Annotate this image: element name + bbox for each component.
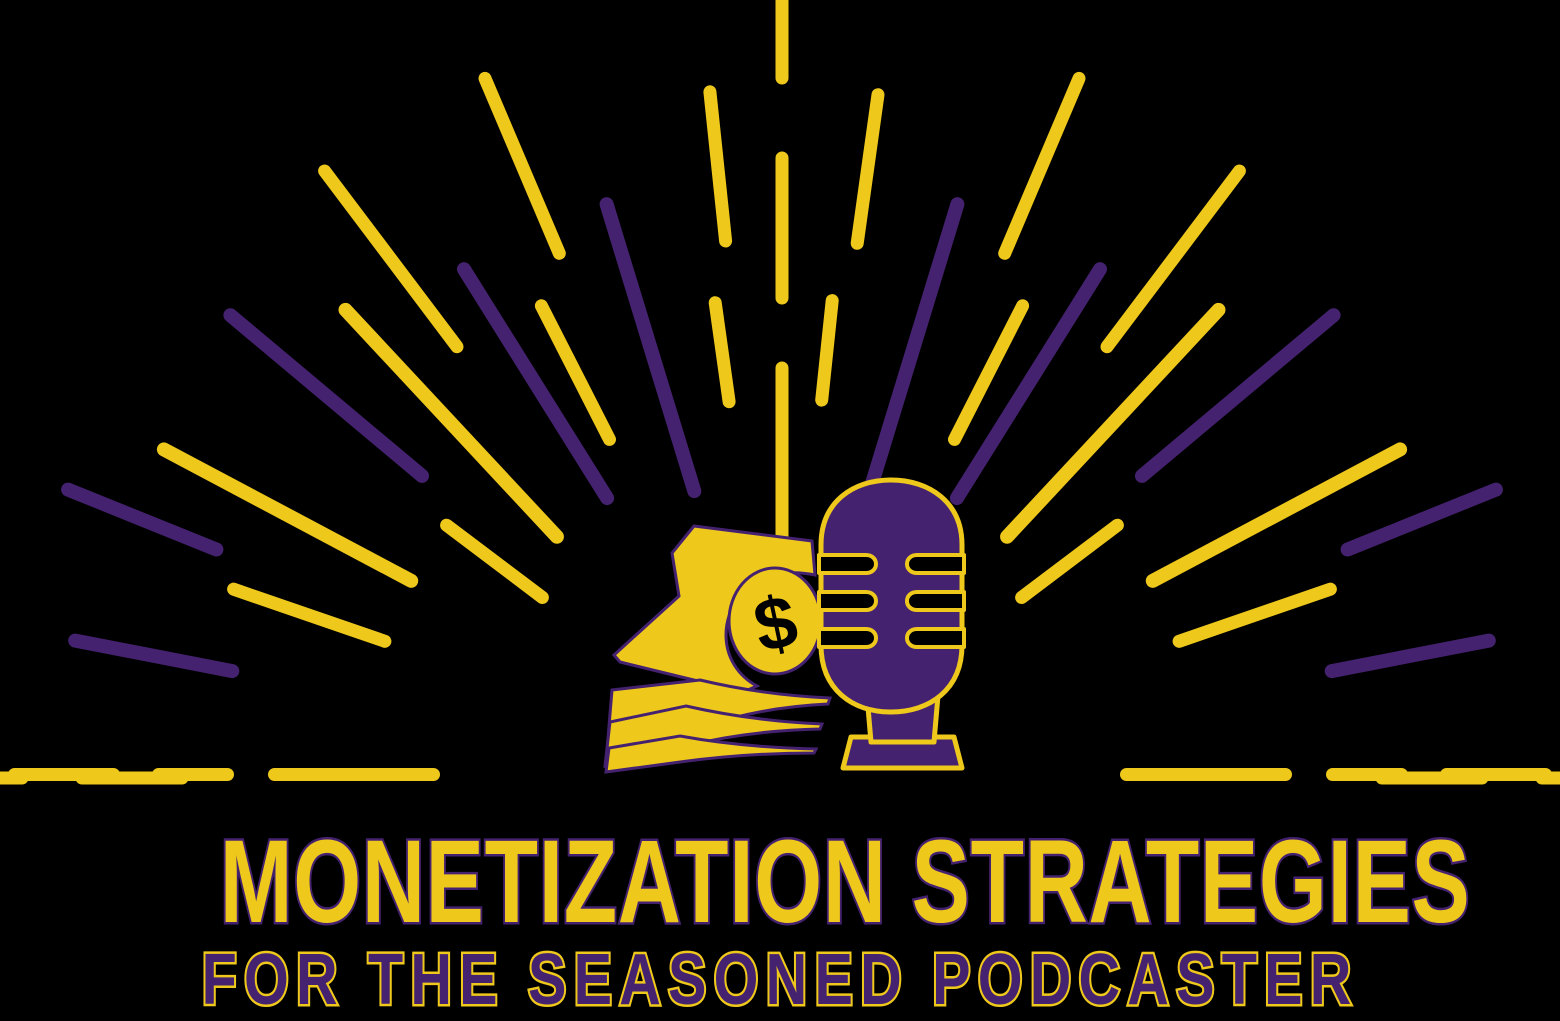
logo-artwork: $ — [0, 0, 1560, 1021]
dollar-coin-icon: $ — [729, 568, 821, 674]
sunburst-ray — [1153, 449, 1400, 580]
sunburst-ray — [710, 92, 726, 241]
sunburst-ray — [234, 589, 385, 641]
sunburst-ray — [1142, 315, 1334, 476]
sunburst-ray — [447, 525, 543, 597]
sunburst-ray — [607, 204, 695, 491]
baseline-dash — [1326, 768, 1408, 781]
retro-microphone-icon — [819, 480, 964, 768]
sunburst-ray — [68, 490, 216, 550]
sunburst-ray — [75, 641, 232, 672]
baseline-dash — [8, 768, 120, 781]
sunburst-ray — [164, 449, 411, 580]
sunburst-ray — [325, 171, 457, 347]
sunburst-ray — [485, 78, 559, 253]
sunburst-ray — [1107, 171, 1239, 347]
sunburst-ray — [230, 315, 422, 476]
sunburst-ray — [1022, 525, 1118, 597]
sunburst-ray — [1005, 78, 1079, 253]
logo-canvas: $ MONETIZATION STRATEGIES FOR THE SEASON — [0, 0, 1560, 1021]
baseline-dash — [152, 768, 234, 781]
sunburst-ray — [822, 301, 833, 401]
baseline-dash — [1120, 768, 1292, 781]
sunburst-ray — [1179, 589, 1330, 641]
baseline-dash — [1440, 768, 1552, 781]
sunburst-ray — [870, 204, 958, 491]
sunburst-ray — [857, 95, 878, 244]
sunburst-ray — [1332, 641, 1489, 672]
sunburst-ray — [1348, 490, 1496, 550]
sunburst-ray — [715, 303, 729, 402]
dashed-baseline-icon — [8, 768, 1552, 781]
baseline-dash — [268, 768, 440, 781]
